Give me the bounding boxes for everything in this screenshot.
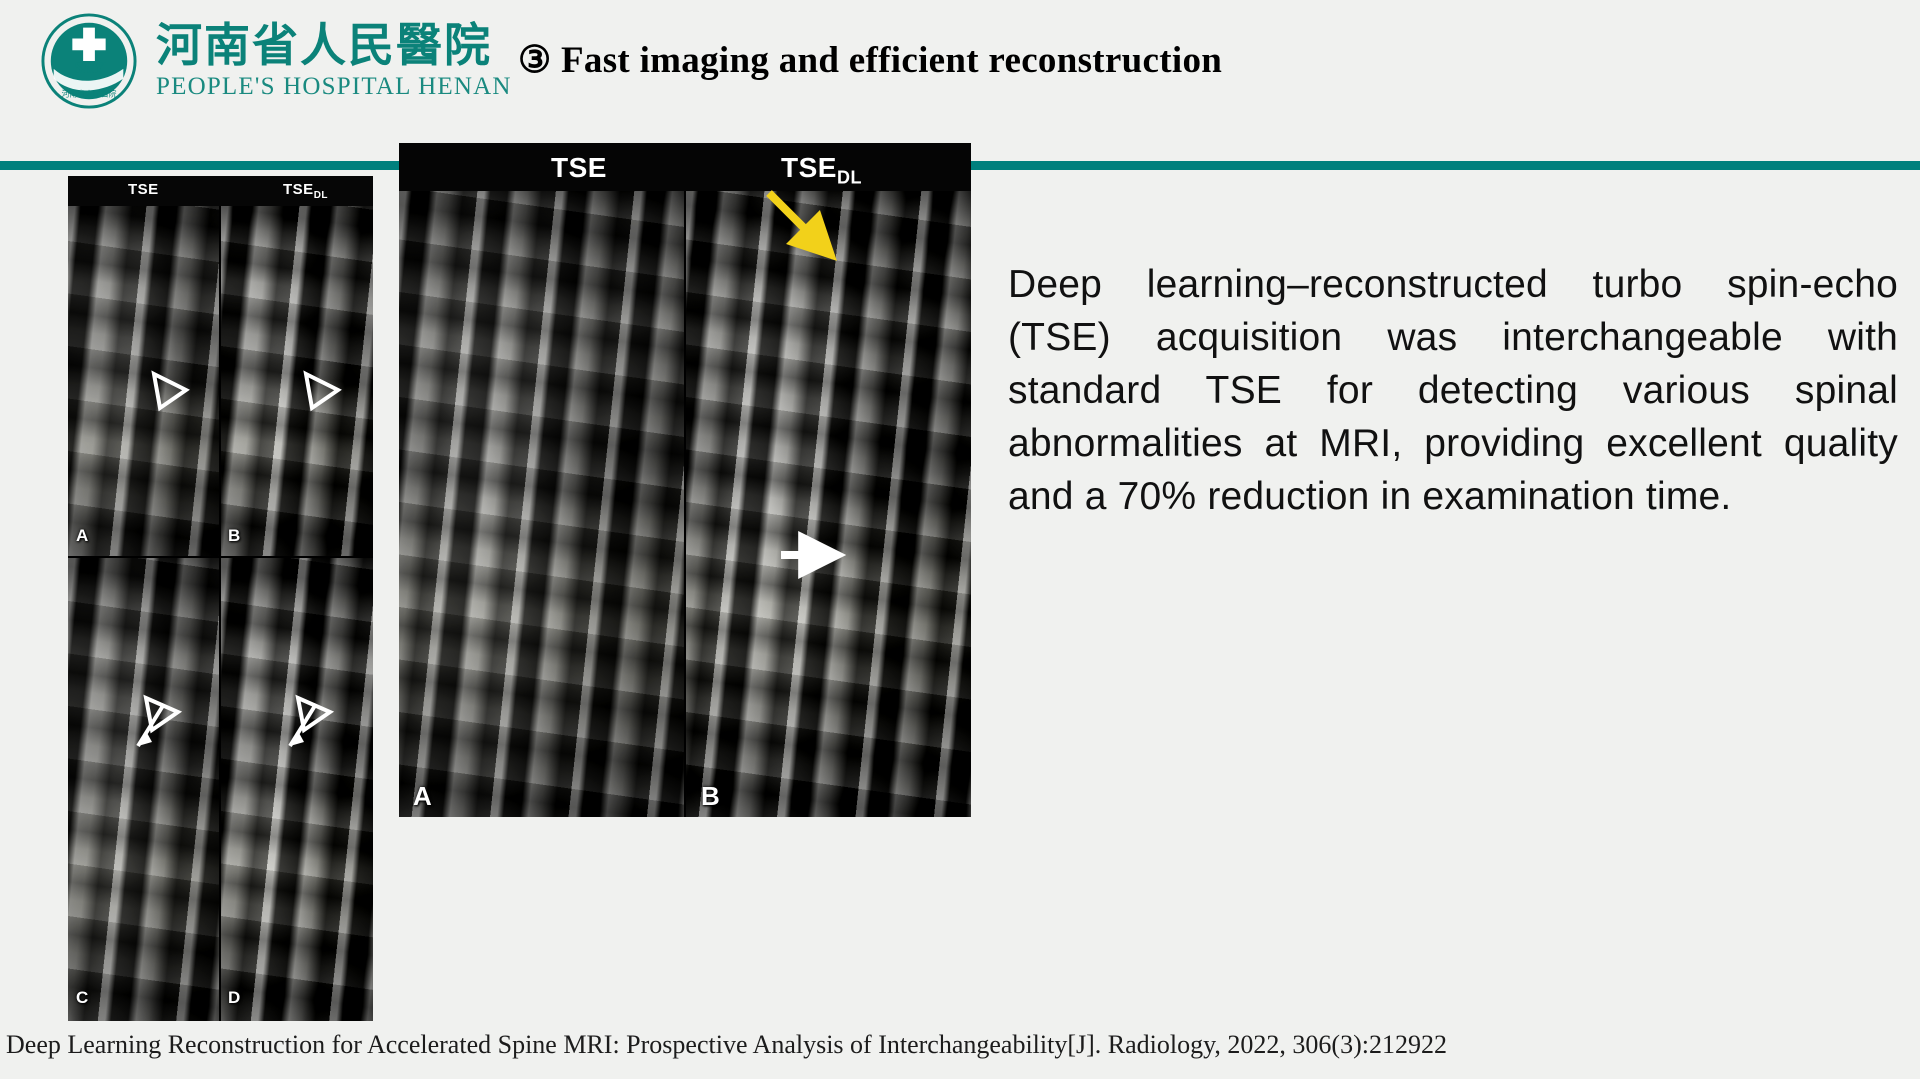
svg-text:SRY: SRY xyxy=(74,58,106,77)
panel-letter-d: D xyxy=(228,988,240,1008)
label-tse-left: TSE xyxy=(128,181,159,198)
hospital-emblem-icon: SRY 河南省人民醫院 xyxy=(40,12,138,110)
logo-chinese-name: 河南省人民醫院 xyxy=(156,22,512,70)
citation-reference: Deep Learning Reconstruction for Acceler… xyxy=(6,1030,1447,1060)
logo-wordmark: 河南省人民醫院 PEOPLE'S HOSPITAL HENAN xyxy=(156,22,512,101)
mri-large-tsedl xyxy=(686,191,971,817)
mri-image-tse-top xyxy=(68,206,219,556)
figure-left-composite: TSE TSEDL A B C D xyxy=(68,176,373,1021)
mri-image-tsedl-top xyxy=(221,206,373,556)
slide-header: SRY 河南省人民醫院 河南省人民醫院 PEOPLE'S HOSPITAL HE… xyxy=(0,0,1920,161)
panel-letter-main-a: A xyxy=(413,781,432,812)
mri-large-tse xyxy=(399,191,684,817)
hospital-logo: SRY 河南省人民醫院 河南省人民醫院 PEOPLE'S HOSPITAL HE… xyxy=(40,12,512,110)
figure-main-header-bar: TSE TSEDL xyxy=(399,143,971,191)
panel-letter-c: C xyxy=(76,988,88,1008)
mri-image-tse-bottom xyxy=(68,558,219,1021)
logo-english-name: PEOPLE'S HOSPITAL HENAN xyxy=(156,73,512,101)
label-tse-main: TSE xyxy=(551,152,607,184)
summary-paragraph: Deep learning–reconstructed turbo spin-e… xyxy=(1008,258,1898,523)
label-tsedl-left: TSEDL xyxy=(283,181,328,201)
panel-letter-a: A xyxy=(76,526,88,546)
mri-image-tsedl-bottom xyxy=(221,558,373,1021)
panel-letter-main-b: B xyxy=(701,781,720,812)
svg-text:河南省人民醫院: 河南省人民醫院 xyxy=(62,88,117,98)
figure-main-comparison: TSE TSEDL A B xyxy=(399,143,971,817)
panel-letter-b: B xyxy=(228,526,240,546)
label-tsedl-main: TSEDL xyxy=(781,152,862,189)
figure-left-header-bar: TSE TSEDL xyxy=(68,176,373,206)
page-title: ③ Fast imaging and efficient reconstruct… xyxy=(518,38,1222,82)
